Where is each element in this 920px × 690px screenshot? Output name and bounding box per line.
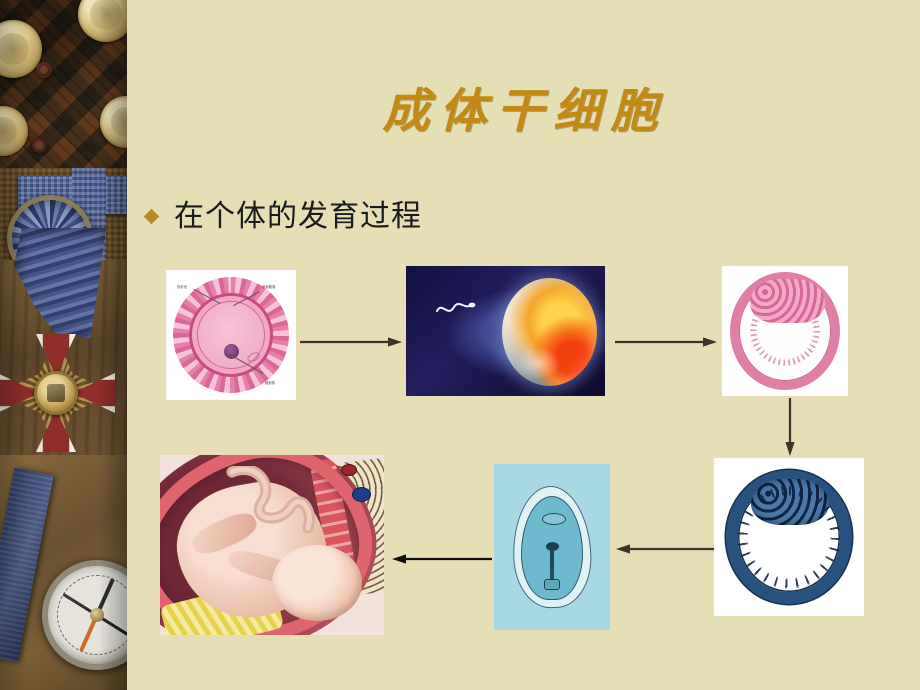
cross-center-medallion (34, 371, 78, 415)
ovum-label-top-left: 放射冠 (177, 284, 187, 289)
egg-cell (502, 278, 597, 386)
figure-blastocyst-blue (714, 458, 864, 616)
ovum-label-bottom-right: 细胞核 (265, 380, 275, 385)
bullet-item: 在个体的发育过程 (146, 200, 422, 233)
figure-embryonic-disc (494, 464, 610, 630)
figure-ovum-egg-cell: 放射冠 卵细胞膜 细胞核 (166, 270, 296, 400)
primitive-pit (544, 579, 560, 590)
gold-coin-icon (36, 62, 52, 78)
diamond-bullet-icon (144, 209, 160, 225)
arrow-ovum-to-fertilization (300, 336, 402, 348)
figure-blastocyst-pink (722, 266, 848, 396)
amniotic-vesicle (542, 513, 566, 525)
arrow-blastocyst-down (784, 398, 796, 456)
sperm-cell-icon (436, 298, 476, 320)
figure-fertilization (406, 266, 605, 396)
arrow-blue-blastocyst-to-disc (616, 543, 714, 555)
gold-coin-icon (32, 138, 47, 153)
inner-cell-mass-blue (751, 479, 829, 525)
maltese-cross-medal-icon (0, 318, 126, 468)
ovum-label-top-right: 卵细胞膜 (262, 284, 276, 289)
arrow-fertilization-to-blastocyst (615, 336, 717, 348)
trophoblast-ring-blue (726, 470, 852, 604)
figure-fetus-in-utero (160, 455, 384, 635)
bullet-item-label: 在个体的发育过程 (174, 200, 422, 233)
arrow-disc-to-fetus (392, 553, 492, 565)
umbilical-cord (218, 466, 321, 560)
blood-vessel-artery (341, 464, 357, 476)
inner-cell-mass (750, 279, 825, 323)
trophoblast-ring (730, 272, 840, 390)
embryonic-disc-body (521, 496, 583, 600)
page-title: 成体干细胞 (300, 72, 750, 141)
slide-canvas: 成体干细胞 在个体的发育过程 放射冠 卵细胞膜 细胞核 (0, 0, 920, 690)
compass-hub (90, 608, 104, 622)
blood-vessel-vein (352, 487, 371, 502)
decorative-photo-border (0, 0, 127, 690)
